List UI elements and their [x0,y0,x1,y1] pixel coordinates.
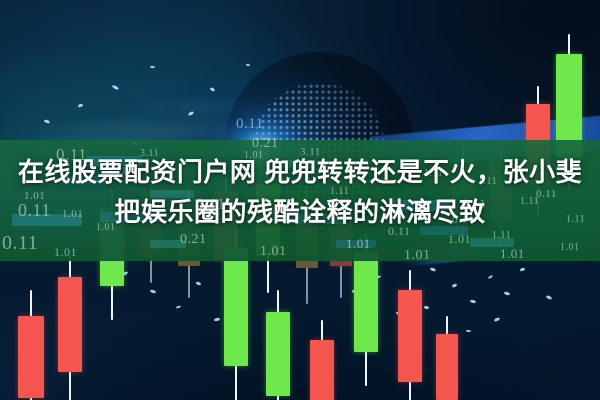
candle-body [18,316,44,398]
candle-body [224,248,248,366]
banner-image: 0.111.010.111.010.111.011.011.113.110.11… [0,0,600,400]
headline-line-2: 把娱乐圈的残酷诠释的淋漓尽致 [0,192,600,232]
price-number: 1.01 [500,246,525,262]
candlestick-down [18,290,44,400]
headline-text: 在线股票配资门户网 兜兜转转还是不火，张小斐 把娱乐圈的残酷诠释的淋漓尽致 [0,152,600,232]
candlestick-down [310,320,334,400]
candle-body [58,277,82,372]
price-number: 1.01 [346,236,371,252]
candle-body [436,334,458,400]
candlestick-down [436,316,458,400]
price-number: 1.01 [260,244,287,260]
candlestick-down [398,270,422,400]
candle-body [266,312,290,396]
candle-body [398,290,422,382]
headline-line-1: 在线股票配资门户网 兜兜转转还是不火，张小斐 [0,152,600,192]
price-number: 0.11 [2,232,38,255]
price-number: 1.01 [54,245,77,260]
candle-body [354,252,378,352]
price-number: 0.11 [236,116,264,133]
candlestick-down [58,255,82,400]
candlestick-up [266,290,290,400]
candle-body [310,340,334,400]
price-number: 0.21 [180,232,207,248]
price-number: 1.01 [404,248,431,264]
price-number: 1.01 [448,232,471,247]
price-number: 1.01 [560,242,580,253]
price-number: 0.21 [252,136,279,152]
